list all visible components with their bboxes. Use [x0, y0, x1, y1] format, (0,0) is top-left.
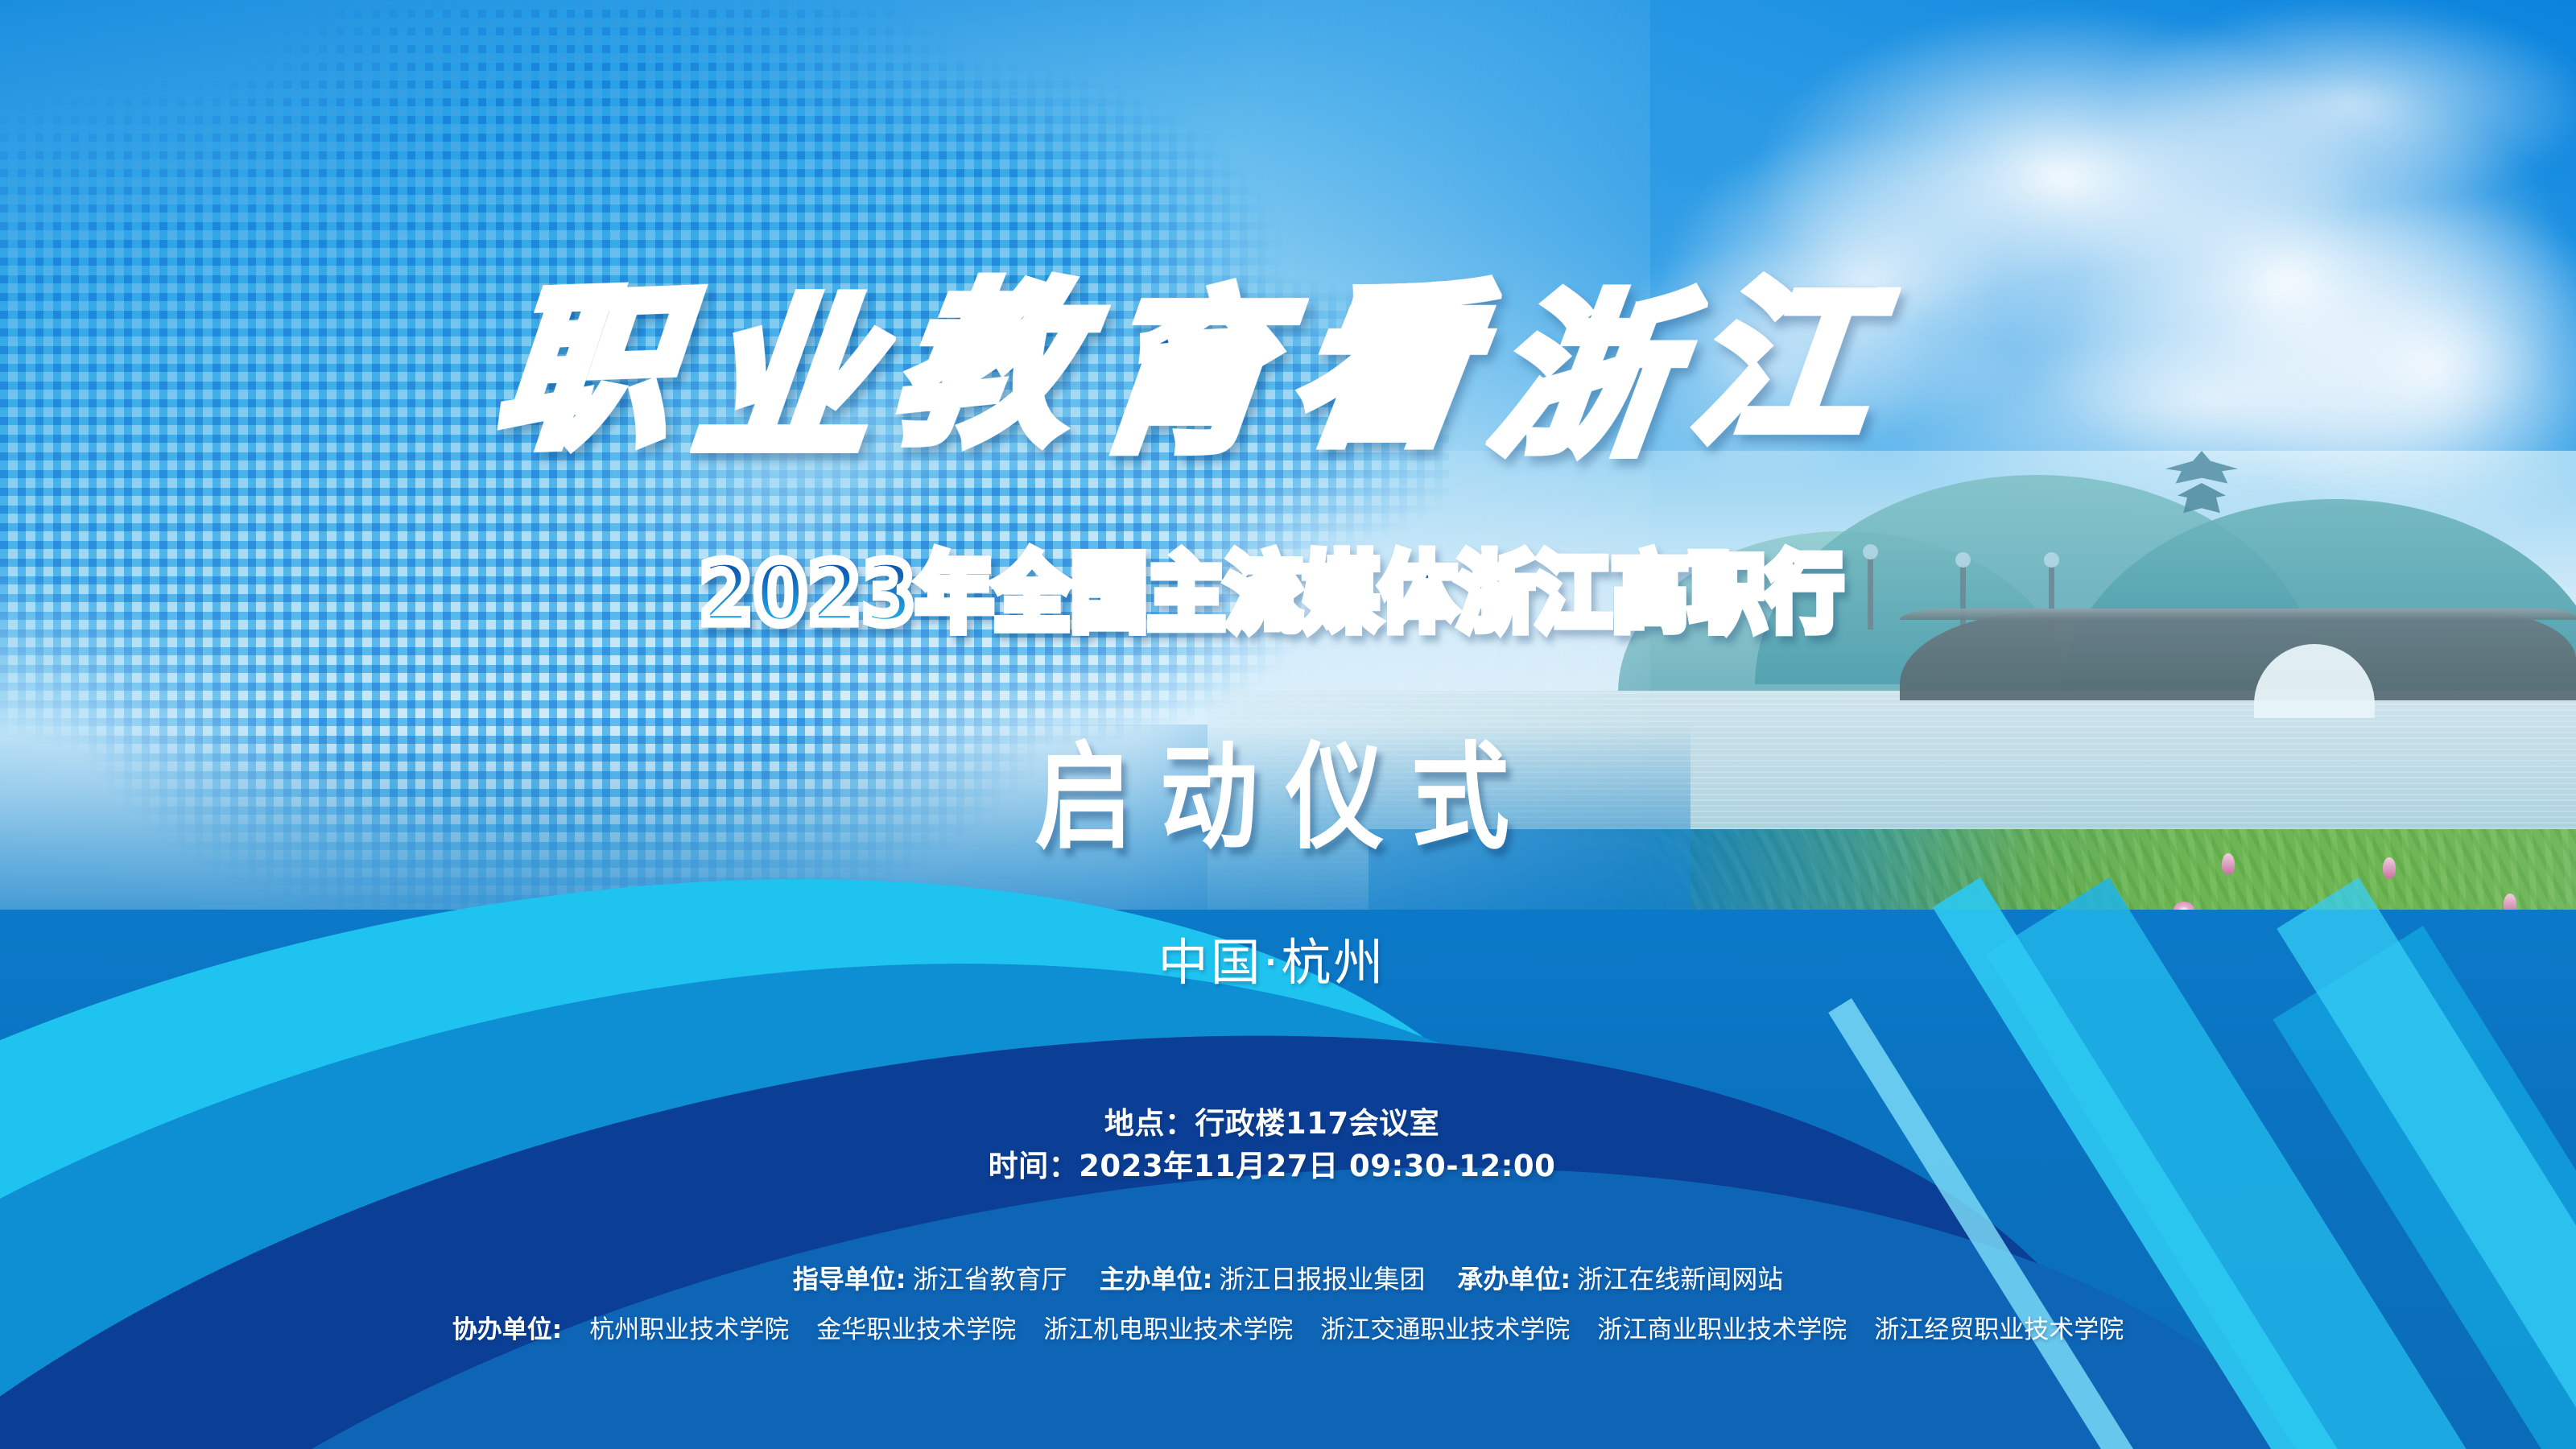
- co-organizer-item: 浙江交通职业技术学院: [1320, 1311, 1570, 1349]
- organizer-guidance: 指导单位: 浙江省教育厅: [793, 1260, 1067, 1298]
- co-organizer-item: 杭州职业技术学院: [589, 1311, 789, 1349]
- organizer-undertaker: 承办单位: 浙江在线新闻网站: [1457, 1260, 1783, 1298]
- organizer-row-primary: 指导单位: 浙江省教育厅 主办单位: 浙江日报报业集团 承办单位: 浙江在线新闻…: [0, 1260, 2576, 1298]
- organizer-credits: 指导单位: 浙江省教育厅 主办单位: 浙江日报报业集团 承办单位: 浙江在线新闻…: [0, 1260, 2576, 1349]
- city-label: 中国·杭州: [563, 938, 1980, 988]
- ceremony-title: 启动仪式: [563, 740, 1980, 856]
- organizer-host: 主办单位: 浙江日报报业集团: [1100, 1260, 1426, 1298]
- co-organizer-item: 浙江经贸职业技术学院: [1874, 1311, 2124, 1349]
- event-subtitle: 2023年全国主流媒体浙江高职行: [531, 551, 2013, 640]
- co-organizer-item: 浙江商业职业技术学院: [1597, 1311, 1847, 1349]
- event-poster: 职 业 教 育 看 浙 江 2023年全国主流媒体浙江高职行 启动仪式 中国·杭…: [0, 0, 2576, 1449]
- co-organizer-item: 金华职业技术学院: [816, 1311, 1016, 1349]
- co-organizer-label: 协办单位:: [452, 1311, 562, 1349]
- organizer-row-co: 协办单位: 杭州职业技术学院 金华职业技术学院 浙江机电职业技术学院 浙江交通职…: [0, 1311, 2576, 1349]
- venue-line: 地点：行政楼117会议室: [563, 1103, 1980, 1146]
- lotus-bud-icon: [2383, 857, 2396, 878]
- time-line: 时间：2023年11月27日 09:30-12:00: [563, 1146, 1980, 1188]
- lotus-bud-icon: [2222, 853, 2235, 874]
- co-organizer-item: 浙江机电职业技术学院: [1043, 1311, 1293, 1349]
- co-organizer-list: 杭州职业技术学院 金华职业技术学院 浙江机电职业技术学院 浙江交通职业技术学院 …: [589, 1311, 2124, 1349]
- event-meta: 地点：行政楼117会议室 时间：2023年11月27日 09:30-12:00: [563, 1103, 1980, 1187]
